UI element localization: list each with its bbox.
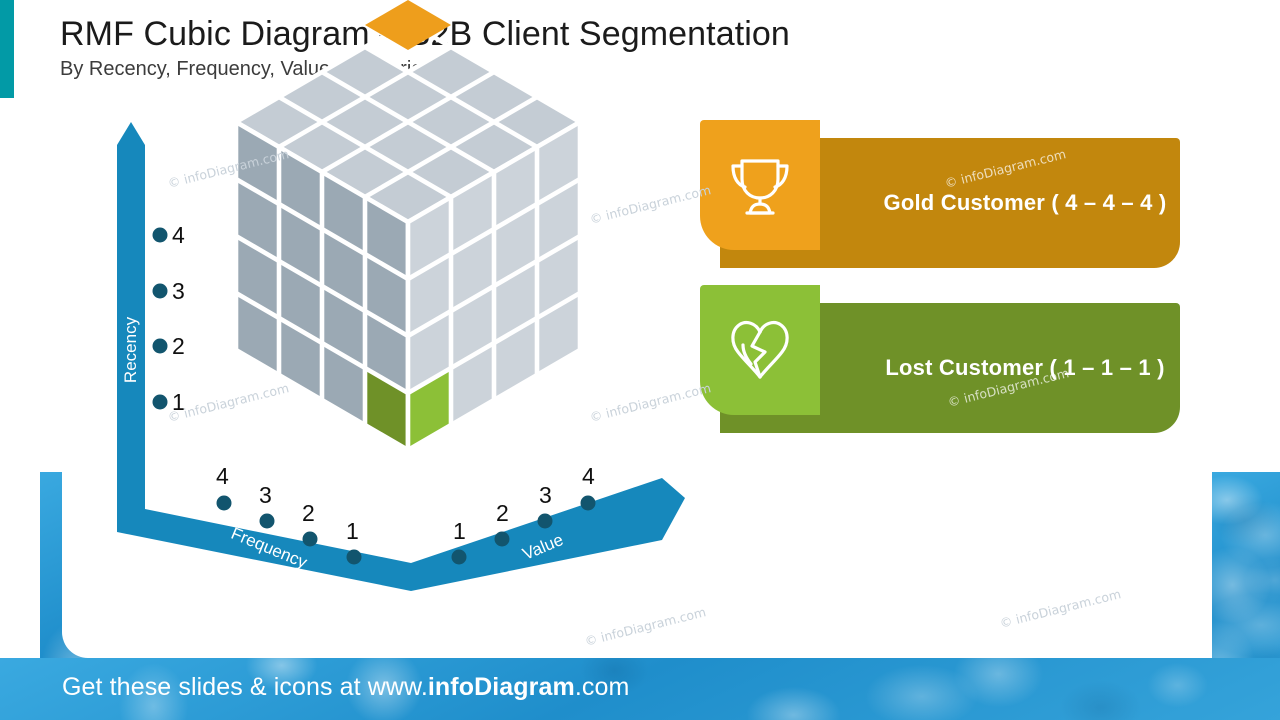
broken-heart-icon bbox=[722, 312, 798, 388]
tick-label-value-1: 1 bbox=[453, 520, 466, 543]
footer-prefix: Get these slides & icons at www. bbox=[62, 673, 428, 701]
tick-label-recency-1: 1 bbox=[172, 391, 185, 414]
panel-lost-label: Lost Customer ( 1 – 1 – 1 ) bbox=[860, 303, 1190, 433]
cube-diagram-svg: Recency Frequency Value bbox=[0, 0, 700, 660]
tick-label-recency-2: 2 bbox=[172, 335, 185, 358]
tick-dot-recency-1 bbox=[153, 395, 168, 410]
trophy-icon bbox=[722, 147, 798, 223]
tick-label-frequency-3: 3 bbox=[259, 484, 272, 507]
tick-dot-frequency-2 bbox=[303, 532, 318, 547]
panel-gold-label: Gold Customer ( 4 – 4 – 4 ) bbox=[860, 138, 1190, 268]
tick-dot-value-3 bbox=[538, 514, 553, 529]
tick-label-value-3: 3 bbox=[539, 484, 552, 507]
footer-cta[interactable]: Get these slides & icons at www.infoDiag… bbox=[62, 673, 629, 702]
panel-gold-icon-box bbox=[700, 120, 820, 250]
slide-canvas: RMF Cubic Diagram – B2B Client Segmentat… bbox=[0, 0, 1280, 720]
panel-lost-icon-box bbox=[700, 285, 820, 415]
tick-label-recency-4: 4 bbox=[172, 224, 185, 247]
tick-label-value-2: 2 bbox=[496, 502, 509, 525]
tick-dot-value-4 bbox=[581, 496, 596, 511]
panel-gold-customer[interactable]: Gold Customer ( 4 – 4 – 4 ) © infoDiagra… bbox=[700, 120, 1180, 268]
tick-label-frequency-2: 2 bbox=[302, 502, 315, 525]
footer-brand: infoDiagram bbox=[428, 673, 575, 701]
tick-label-recency-3: 3 bbox=[172, 280, 185, 303]
tick-dot-recency-4 bbox=[153, 228, 168, 243]
tick-dot-frequency-3 bbox=[260, 514, 275, 529]
tick-dot-frequency-1 bbox=[347, 550, 362, 565]
tick-label-frequency-4: 4 bbox=[216, 465, 229, 488]
tick-label-frequency-1: 1 bbox=[346, 520, 359, 543]
tick-dot-value-1 bbox=[452, 550, 467, 565]
tick-dot-frequency-4 bbox=[217, 496, 232, 511]
tick-label-value-4: 4 bbox=[582, 465, 595, 488]
rfm-cube-diagram: Recency Frequency Value 4 3 2 1 4 3 2 1 … bbox=[0, 0, 700, 660]
tick-dot-recency-2 bbox=[153, 339, 168, 354]
cube-stack bbox=[236, 0, 580, 450]
footer-suffix: .com bbox=[575, 673, 630, 701]
tick-dot-value-2 bbox=[495, 532, 510, 547]
panel-lost-customer[interactable]: Lost Customer ( 1 – 1 – 1 ) © infoDiagra… bbox=[700, 285, 1180, 433]
tick-dot-recency-3 bbox=[153, 284, 168, 299]
axis-label-recency: Recency bbox=[121, 316, 140, 383]
